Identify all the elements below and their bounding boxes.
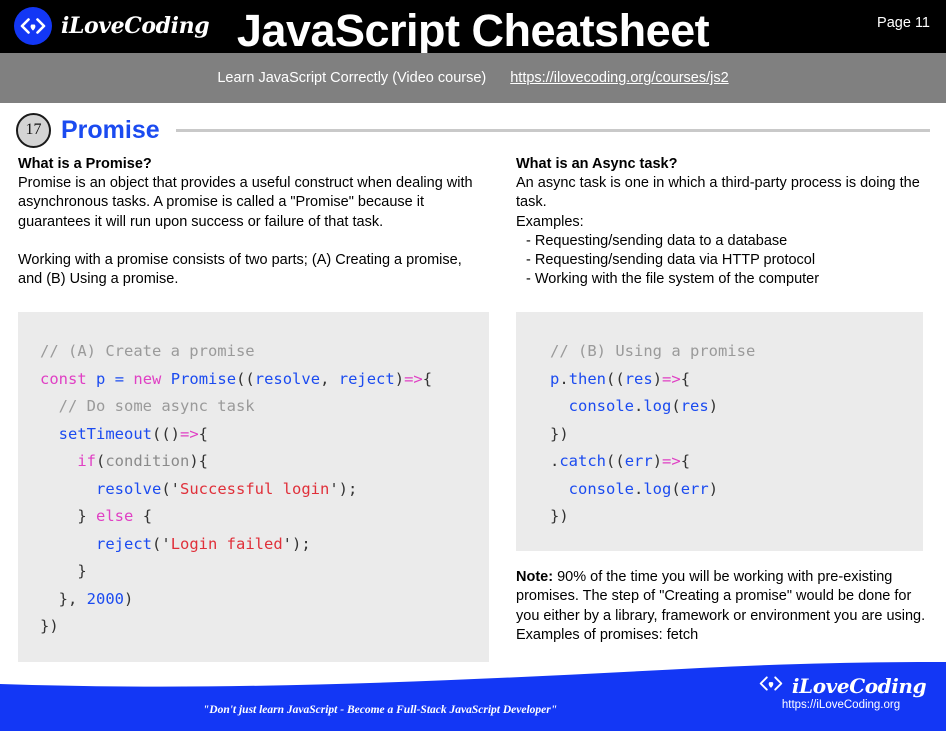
code-line: } else { [40,507,152,525]
code-line: console.log(res) [550,397,718,415]
footer-tagline: "Don't just learn JavaScript - Become a … [0,704,760,716]
section-title: Promise [61,116,160,145]
code-heart-logo-icon [756,676,786,696]
code-line: if(condition){ [40,452,208,470]
page-footer: "Don't just learn JavaScript - Become a … [0,662,946,731]
code-block-using-promise: // (B) Using a promise p.then((res)=>{ c… [516,312,923,551]
note-text: 90% of the time you will be working with… [516,569,925,643]
section-divider [176,129,930,132]
examples-label: Examples: [516,213,928,232]
code-line: reject('Login failed'); [40,535,311,553]
left-paragraph-2: Working with a promise consists of two p… [18,251,483,290]
code-line: }, 2000) [40,590,133,608]
right-text-column: What is an Async task? An async task is … [516,155,928,290]
example-item: - Working with the file system of the co… [516,270,928,289]
course-subtitle: Learn JavaScript Correctly (Video course… [217,70,486,86]
code-line: }) [550,425,569,443]
code-line: } [40,562,87,580]
code-comment: // (B) Using a promise [550,342,755,360]
code-line: // Do some async task [40,397,255,415]
left-paragraph-1: Promise is an object that provides a use… [18,174,483,232]
footer-url[interactable]: https://iLoveCoding.org [748,699,934,711]
example-item: - Requesting/sending data to a database [516,232,928,251]
code-comment: // (A) Create a promise [40,342,255,360]
code-line: p.then((res)=>{ [550,370,690,388]
code-line: }) [40,617,59,635]
subheader-bar: Learn JavaScript Correctly (Video course… [0,53,946,103]
footer-brand: iLoveCoding https://iLoveCoding.org [748,674,934,711]
left-text-column: What is a Promise? Promise is an object … [18,155,483,289]
note-label: Note: [516,569,553,585]
code-line: .catch((err)=>{ [550,452,690,470]
code-line: }) [550,507,569,525]
page-header: iLoveCoding JavaScript Cheatsheet Page 1… [0,0,946,53]
footer-brand-name: iLoveCoding [792,674,926,698]
course-link[interactable]: https://ilovecoding.org/courses/js2 [510,70,728,86]
code-block-create-promise: // (A) Create a promise const p = new Pr… [18,312,489,662]
right-heading: What is an Async task? [516,155,928,174]
code-line: console.log(err) [550,480,718,498]
left-heading: What is a Promise? [18,155,483,174]
section-heading: 17 Promise [16,112,930,148]
note-block: Note: 90% of the time you will be workin… [516,568,928,645]
example-item: - Requesting/sending data via HTTP proto… [516,251,928,270]
right-paragraph-1: An async task is one in which a third-pa… [516,174,928,213]
code-line: resolve('Successful login'); [40,480,357,498]
section-number-badge: 17 [16,113,51,148]
code-line: const p = new Promise((resolve, reject)=… [40,370,432,388]
code-line: setTimeout(()=>{ [40,425,208,443]
page-number: Page 11 [877,15,930,31]
